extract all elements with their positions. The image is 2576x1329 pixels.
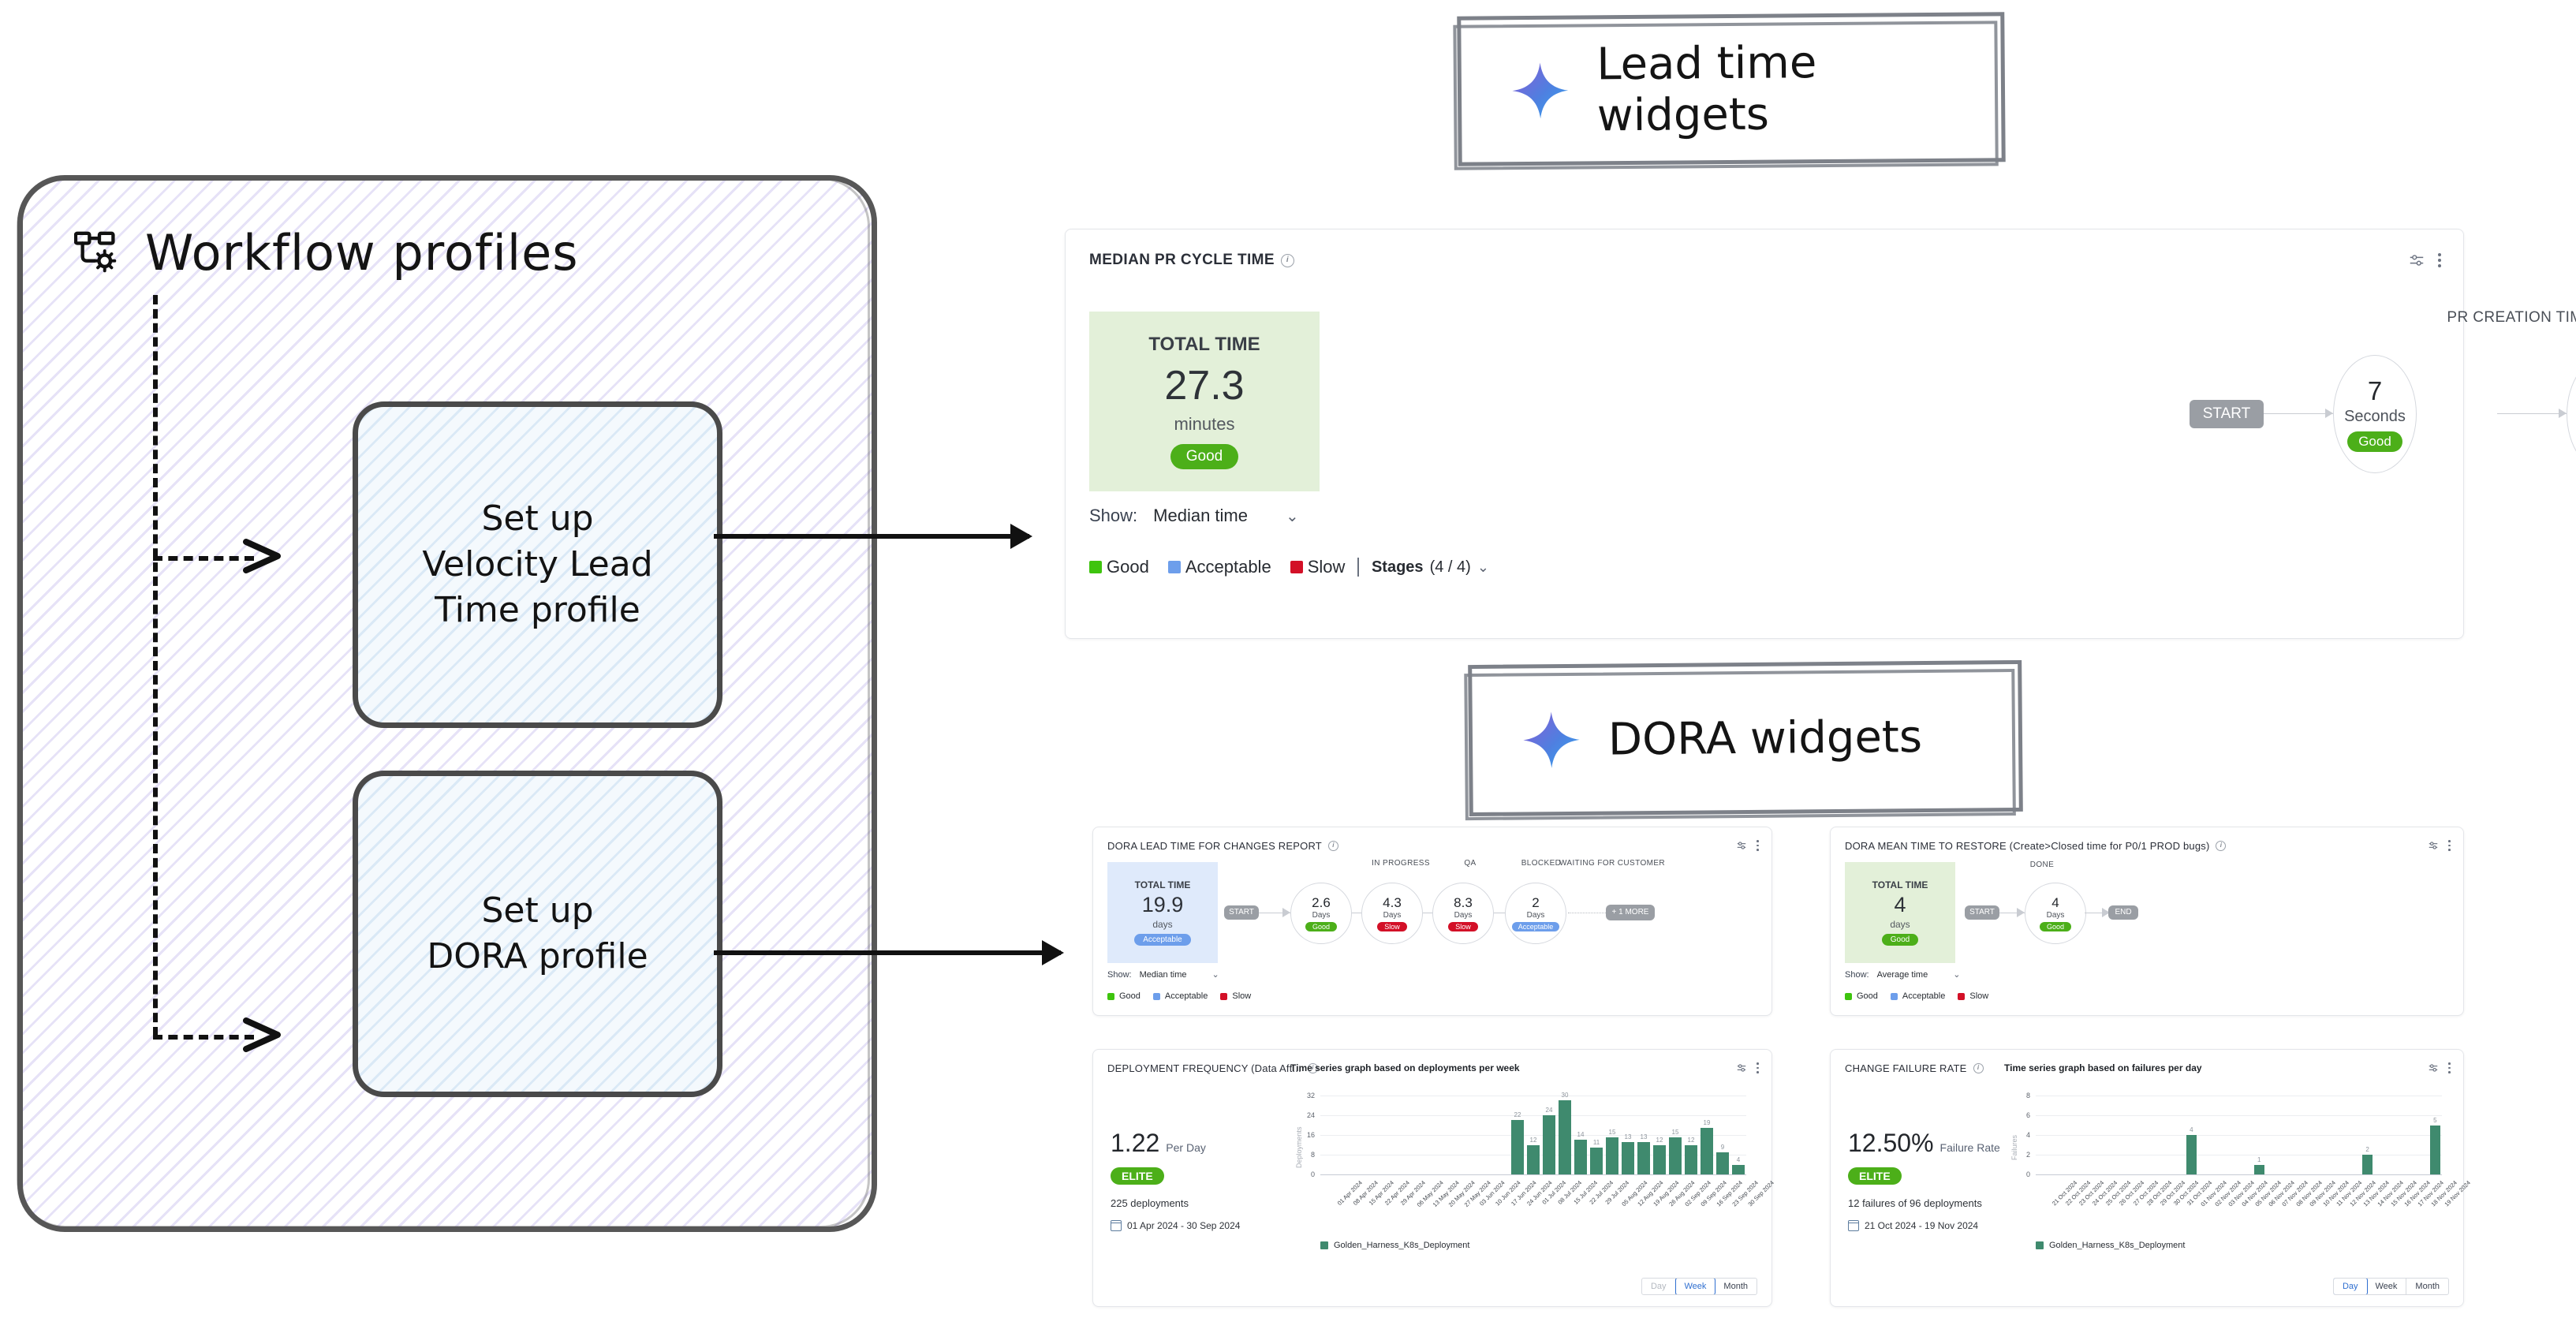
deployment-frequency-plot: 0816243201 Apr 202408 Apr 202415 Apr 202…	[1320, 1096, 1746, 1174]
bar-value-label: 5	[2433, 1117, 2436, 1124]
banner-dora-widgets: DORA widgets	[1468, 660, 2023, 816]
range-toggle-month[interactable]: Month	[2406, 1279, 2448, 1294]
df-legend-swatch	[1320, 1241, 1328, 1249]
dashed-branch-dora	[153, 1035, 254, 1040]
legend-slow-swatch	[1220, 993, 1227, 1000]
mttr-total-value: 4	[1894, 893, 1906, 917]
dlt-total-time-box: TOTAL TIME 19.9 days Acceptable	[1107, 862, 1218, 963]
chevron-down-icon[interactable]: ⌄	[1953, 969, 1960, 980]
dlt-stage-unit-1: Days	[1383, 911, 1402, 920]
sliders-icon[interactable]	[1736, 1062, 1747, 1073]
legend-acceptable: Acceptable	[1153, 991, 1208, 1001]
df-date-range-text: 01 Apr 2024 - 30 Sep 2024	[1127, 1220, 1240, 1231]
chevron-down-icon[interactable]: ⌄	[1286, 506, 1299, 526]
y-axis-tick: 0	[1311, 1170, 1315, 1178]
bar[interactable]	[1574, 1140, 1587, 1174]
bar-value-label: 13	[1625, 1133, 1632, 1140]
info-icon[interactable]: i	[1281, 254, 1294, 267]
cfr-date-range-text: 21 Oct 2024 - 19 Nov 2024	[1865, 1220, 1978, 1231]
mttr-header-actions	[2428, 840, 2451, 851]
pr-start-terminal: START	[2190, 400, 2264, 428]
dlt-show-value: Median time	[1140, 970, 1187, 980]
pr-stage-value-0: 7	[2368, 376, 2382, 406]
mttr-total-time-box: TOTAL TIME 4 days Good	[1845, 862, 1955, 963]
legend-acceptable: Acceptable	[1891, 991, 1945, 1001]
pr-show-value: Median time	[1153, 506, 1248, 526]
mttr-title-text: DORA MEAN TIME TO RESTORE (Create>Closed…	[1845, 840, 2209, 852]
pr-stage-node-0[interactable]: 7 Seconds Good	[2333, 355, 2417, 473]
arrow-dora-to-widget	[714, 950, 1061, 955]
pr-widget-title: MEDIAN PR CYCLE TIME i	[1089, 252, 1294, 269]
bar[interactable]	[1653, 1145, 1666, 1175]
bar[interactable]	[1590, 1148, 1603, 1174]
calendar-icon	[1111, 1220, 1122, 1231]
kebab-menu-icon[interactable]	[1757, 840, 1759, 851]
dlt-legend: Good Acceptable Slow	[1107, 991, 1251, 1001]
legend-good-label: Good	[1857, 991, 1878, 1001]
dlt-stage-label-3: WAITING FOR CUSTOMER	[1549, 859, 1675, 868]
deployment-frequency-widget: DEPLOYMENT FREQUENCY (Data Aft... i Time…	[1092, 1049, 1772, 1307]
mttr-start-terminal: START	[1965, 905, 1999, 920]
cfr-chart-title: Time series graph based on failures per …	[2004, 1062, 2202, 1073]
bar-value-label: 19	[1704, 1119, 1711, 1126]
legend-good-swatch	[1845, 993, 1852, 1000]
pr-total-value: 27.3	[1164, 362, 1244, 409]
mttr-end-terminal: END	[2108, 905, 2138, 920]
bar-value-label: 22	[1514, 1111, 1521, 1118]
info-icon[interactable]: i	[1328, 841, 1338, 851]
mttr-total-label: TOTAL TIME	[1872, 879, 1928, 890]
cfr-title-text: CHANGE FAILURE RATE	[1845, 1062, 1967, 1074]
box-velocity-line1: Set up	[481, 498, 593, 539]
dlt-header-actions	[1736, 840, 1759, 851]
kebab-menu-icon[interactable]	[1757, 1062, 1759, 1073]
workflow-profiles-panel: Workflow profiles Set up Velocity Lead T…	[17, 175, 877, 1232]
dlt-connector-4	[1568, 913, 1609, 914]
box-velocity-line3: Time profile	[435, 590, 640, 630]
legend-acceptable-swatch	[1168, 561, 1181, 573]
banner-lead-time-label: Lead time widgets	[1596, 35, 2001, 141]
sliders-icon[interactable]	[1736, 840, 1747, 851]
cfr-metric-panel: 12.50% Failure Rate ELITE 12 failures of…	[1848, 1129, 2000, 1231]
pr-connector-0	[2264, 413, 2333, 414]
df-title-text: DEPLOYMENT FREQUENCY (Data Aft...	[1107, 1062, 1301, 1074]
range-toggle-day[interactable]: Day	[2333, 1278, 2368, 1295]
legend-good-swatch	[1089, 561, 1102, 573]
mttr-stage-value-0: 4	[2051, 895, 2059, 911]
bar[interactable]	[1637, 1142, 1650, 1174]
cfr-sub-text: 12 failures of 96 deployments	[1848, 1197, 2000, 1209]
pr-show-label: Show:	[1089, 506, 1137, 526]
df-date-range: 01 Apr 2024 - 30 Sep 2024	[1111, 1220, 1240, 1231]
bar[interactable]	[1732, 1165, 1745, 1175]
pr-connector-1	[2497, 413, 2567, 414]
bar-value-label: 4	[2190, 1126, 2193, 1133]
df-rating-badge: ELITE	[1111, 1167, 1164, 1185]
y-axis-tick: 16	[1307, 1131, 1315, 1139]
range-toggle-day[interactable]: Day	[1642, 1279, 1676, 1294]
box-velocity-line2: Velocity Lead	[422, 544, 652, 584]
sliders-icon[interactable]	[2428, 840, 2439, 851]
dlt-stage-status-0: Good	[1305, 922, 1337, 931]
bar-value-label: 15	[1609, 1129, 1616, 1136]
legend-slow-label: Slow	[1969, 991, 1988, 1001]
dlt-stage-node-1[interactable]: 4.3 Days Slow	[1361, 883, 1423, 944]
box-dora-line2: DORA profile	[427, 936, 648, 976]
mttr-connector-0	[1999, 913, 2025, 913]
mttr-stage-status-0: Good	[2040, 922, 2071, 931]
pr-stages-label[interactable]: Stages	[1372, 558, 1424, 577]
range-toggle-week[interactable]: Week	[2367, 1279, 2407, 1294]
setup-dora-profile-box[interactable]: Set up DORA profile	[353, 771, 722, 1097]
arrow-velocity-to-widget	[714, 534, 1029, 539]
gridline	[2036, 1135, 2442, 1136]
dlt-stage-unit-0: Days	[1312, 911, 1331, 920]
legend-good: Good	[1107, 991, 1141, 1001]
pr-show-selector[interactable]: Show: Median time ⌄	[1089, 506, 1299, 526]
mttr-title: DORA MEAN TIME TO RESTORE (Create>Closed…	[1845, 840, 2226, 852]
dlt-total-label: TOTAL TIME	[1135, 879, 1191, 890]
calendar-icon	[1848, 1220, 1859, 1231]
change-failure-rate-plot: 0246821 Oct 202422 Oct 202423 Oct 202424…	[2036, 1096, 2442, 1174]
legend-acceptable-label: Acceptable	[1185, 557, 1271, 577]
y-axis-tick: 2	[2026, 1151, 2030, 1159]
dlt-stage-status-2: Slow	[1448, 922, 1478, 931]
pr-widget-header-actions	[2408, 252, 2441, 269]
arrowhead-dora-icon	[243, 1016, 290, 1055]
gridline	[1320, 1115, 1746, 1116]
bar[interactable]	[1669, 1137, 1682, 1174]
pr-stage-node-1[interactable]: 4.2 Minutes Good	[2567, 355, 2576, 473]
range-toggle-month[interactable]: Month	[1715, 1279, 1757, 1294]
sliders-icon[interactable]	[2408, 252, 2425, 269]
legend-slow: Slow	[1220, 991, 1251, 1001]
kebab-menu-icon[interactable]	[2438, 253, 2441, 267]
y-axis-tick: 6	[2026, 1111, 2030, 1119]
dora-lead-time-widget: DORA LEAD TIME FOR CHANGES REPORT i TOTA…	[1092, 827, 1772, 1016]
mttr-show-value: Average time	[1877, 970, 1928, 980]
bar-value-label: 2	[2365, 1146, 2369, 1153]
df-header-actions	[1736, 1062, 1759, 1073]
info-icon[interactable]: i	[1973, 1063, 1984, 1073]
mttr-total-status-badge: Good	[1882, 934, 1918, 946]
legend-good: Good	[1089, 557, 1149, 577]
pr-widget-title-text: MEDIAN PR CYCLE TIME	[1089, 252, 1275, 269]
dlt-more-terminal[interactable]: + 1 MORE	[1606, 905, 1655, 920]
y-axis-tick: 8	[1311, 1151, 1315, 1159]
dlt-stage-unit-2: Days	[1454, 911, 1473, 920]
kebab-menu-icon[interactable]	[2448, 840, 2451, 851]
dlt-stage-value-1: 4.3	[1383, 895, 1402, 911]
legend-acceptable-label: Acceptable	[1165, 991, 1208, 1001]
legend-acceptable: Acceptable	[1168, 557, 1271, 577]
bar-value-label: 14	[1577, 1131, 1585, 1138]
legend-good-swatch	[1107, 993, 1114, 1000]
dlt-stage-value-2: 8.3	[1454, 895, 1473, 911]
bar-value-label: 9	[1721, 1144, 1724, 1151]
cfr-title: CHANGE FAILURE RATE i	[1845, 1062, 1984, 1074]
dashed-spine	[153, 295, 158, 1036]
bar-value-label: 12	[1530, 1137, 1537, 1144]
legend-slow-label: Slow	[1308, 557, 1346, 577]
x-axis-line	[1320, 1174, 1746, 1175]
df-chart-legend: Golden_Harness_K8s_Deployment	[1320, 1241, 1469, 1250]
pr-total-status-badge: Good	[1170, 444, 1238, 469]
mttr-stage-node-0[interactable]: 4 Days Good	[2025, 883, 2086, 944]
dlt-stage-status-3: Acceptable	[1512, 922, 1560, 931]
bar-value-label: 11	[1593, 1139, 1600, 1146]
cfr-header-actions	[2428, 1062, 2451, 1073]
bar[interactable]	[1606, 1137, 1618, 1174]
bar-value-label: 13	[1641, 1133, 1648, 1140]
cfr-date-range: 21 Oct 2024 - 19 Nov 2024	[1848, 1220, 2000, 1231]
cfr-y-axis-label: Failures	[2010, 1097, 2018, 1160]
y-axis-tick: 4	[2026, 1131, 2030, 1139]
dlt-stage-unit-3: Days	[1527, 911, 1545, 920]
sparkle-icon	[1521, 710, 1582, 771]
df-metric-panel: 1.22 Per Day ELITE 225 deployments 01 Ap…	[1111, 1129, 1240, 1231]
mttr-show-label: Show:	[1845, 970, 1869, 980]
bar-value-label: 30	[1562, 1092, 1569, 1099]
panel-title: Workflow profiles	[145, 224, 579, 282]
cfr-legend-swatch	[2036, 1241, 2044, 1249]
cfr-range-toggle[interactable]: DayWeekMonth	[2333, 1278, 2449, 1295]
dlt-stage-value-3: 2	[1532, 895, 1539, 911]
df-chart-title: Time series graph based on deployments p…	[1290, 1062, 1520, 1073]
mttr-show-selector[interactable]: Show: Average time ⌄	[1845, 969, 1960, 980]
dlt-title-text: DORA LEAD TIME FOR CHANGES REPORT	[1107, 840, 1322, 852]
cfr-metric-value: 12.50%	[1848, 1129, 1934, 1158]
info-icon[interactable]: i	[2216, 841, 2226, 851]
legend-slow-swatch	[1958, 993, 1965, 1000]
gridline	[2036, 1115, 2442, 1116]
dlt-stage-value-0: 2.6	[1312, 895, 1331, 911]
banner-lead-time-widgets: Lead time widgets	[1457, 12, 2005, 166]
legend-slow-swatch	[1290, 561, 1303, 573]
legend-divider	[1357, 558, 1359, 577]
dora-mttr-widget: DORA MEAN TIME TO RESTORE (Create>Closed…	[1830, 827, 2464, 1016]
legend-good-label: Good	[1119, 991, 1141, 1001]
bar[interactable]	[2362, 1155, 2373, 1174]
df-metric-value: 1.22	[1111, 1129, 1159, 1158]
df-sub-text: 225 deployments	[1111, 1197, 1240, 1209]
dlt-show-selector[interactable]: Show: Median time ⌄	[1107, 969, 1219, 980]
legend-good: Good	[1845, 991, 1878, 1001]
df-y-axis-label: Deployments	[1295, 1097, 1303, 1168]
x-axis-line	[2036, 1174, 2442, 1175]
legend-slow: Slow	[1290, 557, 1346, 577]
bar-value-label: 1	[2257, 1156, 2261, 1163]
dlt-stage-status-1: Slow	[1377, 922, 1407, 931]
bar[interactable]	[2254, 1165, 2264, 1175]
dlt-title: DORA LEAD TIME FOR CHANGES REPORT i	[1107, 840, 1338, 852]
box-dora-line1: Set up	[481, 890, 593, 931]
bar-value-label: 15	[1672, 1129, 1679, 1136]
legend-slow-label: Slow	[1232, 991, 1251, 1001]
dlt-start-terminal: START	[1224, 905, 1259, 920]
y-axis-tick: 0	[2026, 1170, 2030, 1178]
df-metric-suffix: Per Day	[1166, 1141, 1206, 1154]
mttr-total-unit: days	[1890, 919, 1910, 930]
bar[interactable]	[2430, 1126, 2440, 1175]
sliders-icon[interactable]	[2428, 1062, 2439, 1073]
pr-total-unit: minutes	[1174, 414, 1234, 435]
legend-acceptable-swatch	[1153, 993, 1160, 1000]
bar-value-label: 24	[1546, 1107, 1553, 1114]
bar[interactable]	[1559, 1100, 1571, 1174]
bar[interactable]	[1527, 1145, 1540, 1175]
mttr-stage-unit-0: Days	[2047, 911, 2065, 920]
chevron-down-icon[interactable]: ⌄	[1212, 969, 1219, 980]
bar[interactable]	[1543, 1115, 1555, 1174]
range-toggle-week[interactable]: Week	[1675, 1278, 1716, 1295]
df-range-toggle[interactable]: DayWeekMonth	[1641, 1278, 1757, 1295]
dlt-stage-node-0[interactable]: 2.6 Days Good	[1290, 883, 1352, 944]
dlt-show-label: Show:	[1107, 970, 1132, 980]
df-legend-label: Golden_Harness_K8s_Deployment	[1334, 1241, 1469, 1250]
bar[interactable]	[2186, 1135, 2197, 1174]
pr-stage-label-0: PR CREATION TIME	[2410, 309, 2576, 327]
kebab-menu-icon[interactable]	[2448, 1062, 2451, 1073]
bar[interactable]	[1685, 1145, 1697, 1175]
cfr-chart-legend: Golden_Harness_K8s_Deployment	[2036, 1241, 2185, 1250]
pr-total-label: TOTAL TIME	[1148, 334, 1260, 356]
bar[interactable]	[1716, 1152, 1729, 1174]
pr-stage-unit-0: Seconds	[2344, 408, 2406, 426]
banner-dora-label: DORA widgets	[1608, 711, 1923, 765]
cfr-legend-label: Golden_Harness_K8s_Deployment	[2049, 1241, 2185, 1250]
df-title: DEPLOYMENT FREQUENCY (Data Aft... i	[1107, 1062, 1318, 1074]
legend-slow: Slow	[1958, 991, 1988, 1001]
bar-value-label: 4	[1737, 1156, 1740, 1163]
gridline	[2036, 1155, 2442, 1155]
pr-total-time-box: TOTAL TIME 27.3 minutes Good	[1089, 312, 1320, 491]
arrowhead-velocity-icon	[243, 537, 290, 577]
mttr-stage-label-0: DONE	[1995, 860, 2089, 869]
bar[interactable]	[1511, 1120, 1524, 1174]
mttr-legend: Good Acceptable Slow	[1845, 991, 1988, 1001]
change-failure-rate-widget: CHANGE FAILURE RATE i Time series graph …	[1830, 1049, 2464, 1307]
mttr-connector-1	[2085, 913, 2110, 913]
pr-stages-count: (4 / 4)	[1430, 558, 1471, 577]
dlt-stage-node-3[interactable]: 2 Days Acceptable	[1505, 883, 1566, 944]
dlt-total-status-badge: Acceptable	[1134, 934, 1190, 946]
dashed-branch-velocity	[153, 556, 254, 561]
sparkle-icon	[1510, 61, 1570, 121]
dlt-stage-node-2[interactable]: 8.3 Days Slow	[1432, 883, 1494, 944]
bar[interactable]	[1622, 1142, 1634, 1174]
cfr-metric-suffix: Failure Rate	[1940, 1141, 2000, 1154]
legend-good-label: Good	[1107, 557, 1149, 577]
chevron-down-icon[interactable]: ⌄	[1477, 559, 1489, 576]
bar-value-label: 12	[1656, 1137, 1663, 1144]
workflow-node-gear-icon	[74, 229, 123, 278]
legend-acceptable-label: Acceptable	[1902, 991, 1945, 1001]
cfr-rating-badge: ELITE	[1848, 1167, 1902, 1185]
bar[interactable]	[1701, 1128, 1713, 1174]
pr-stage-status-0: Good	[2347, 431, 2402, 452]
y-axis-tick: 32	[1307, 1092, 1315, 1099]
y-axis-tick: 24	[1307, 1111, 1315, 1119]
median-pr-cycle-time-widget: MEDIAN PR CYCLE TIME i TOTAL TIME 27.3 m…	[1065, 229, 2464, 639]
setup-velocity-lead-time-profile-box[interactable]: Set up Velocity Lead Time profile	[353, 401, 722, 728]
dlt-total-value: 19.9	[1142, 893, 1184, 917]
legend-acceptable-swatch	[1891, 993, 1898, 1000]
y-axis-tick: 8	[2026, 1092, 2030, 1099]
bar-value-label: 12	[1688, 1137, 1695, 1144]
gridline	[1320, 1096, 1746, 1096]
dlt-connector-0	[1259, 913, 1290, 913]
panel-header: Workflow profiles	[74, 224, 579, 282]
pr-legend: Good Acceptable Slow Stages (4 / 4) ⌄	[1089, 557, 1489, 577]
dlt-total-unit: days	[1152, 919, 1172, 930]
gridline	[2036, 1096, 2442, 1096]
